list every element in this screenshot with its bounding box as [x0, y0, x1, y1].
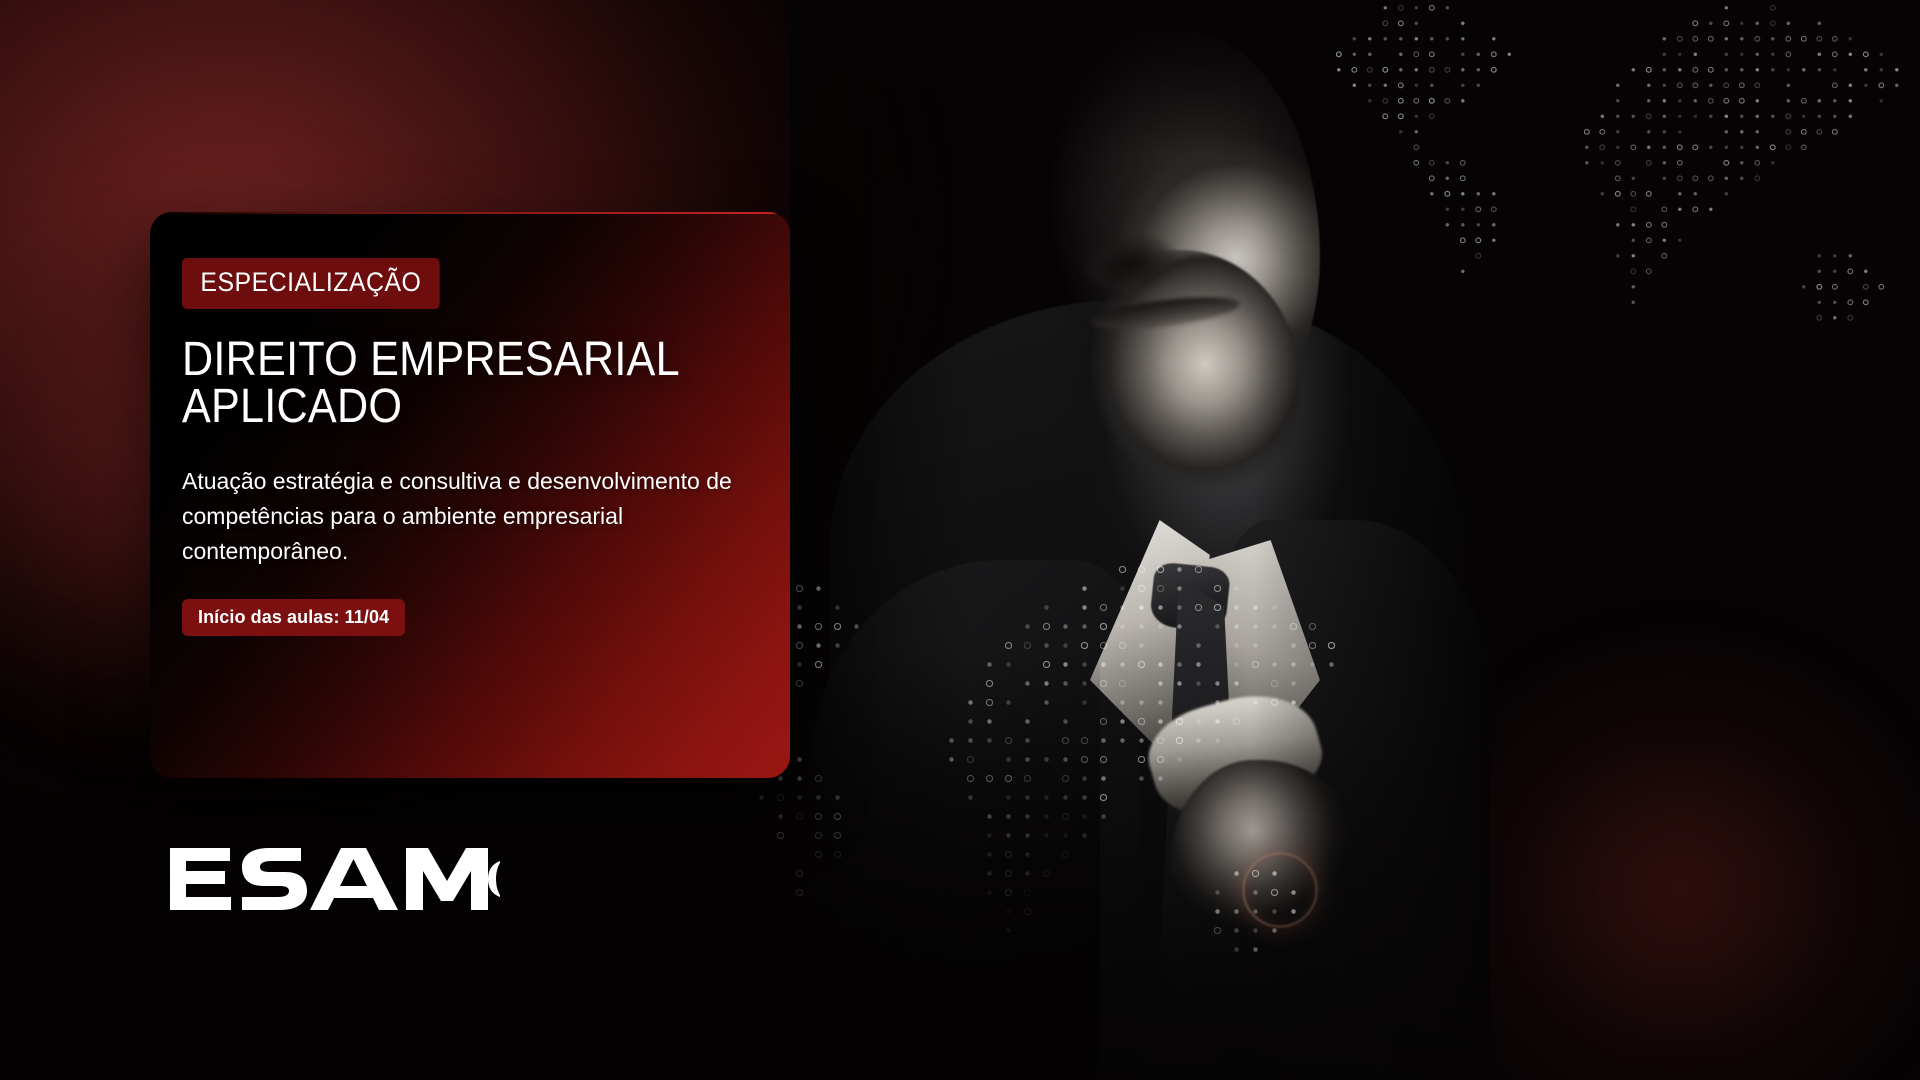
- course-title: DIREITO EMPRESARIAL APLICADO: [182, 337, 706, 430]
- category-badge: ESPECIALIZAÇÃO: [182, 258, 440, 309]
- promo-banner: ESPECIALIZAÇÃO DIREITO EMPRESARIAL APLIC…: [0, 0, 1920, 1080]
- esamc-logo-icon[interactable]: [170, 848, 500, 910]
- course-description: Atuação estratégia e consultiva e desenv…: [182, 464, 762, 569]
- card-top-accent-line: [150, 212, 790, 214]
- dotted-world-map-icon-top-right: [1300, 0, 1920, 500]
- course-card[interactable]: ESPECIALIZAÇÃO DIREITO EMPRESARIAL APLIC…: [150, 212, 790, 778]
- start-date-badge: Início das aulas: 11/04: [182, 599, 405, 636]
